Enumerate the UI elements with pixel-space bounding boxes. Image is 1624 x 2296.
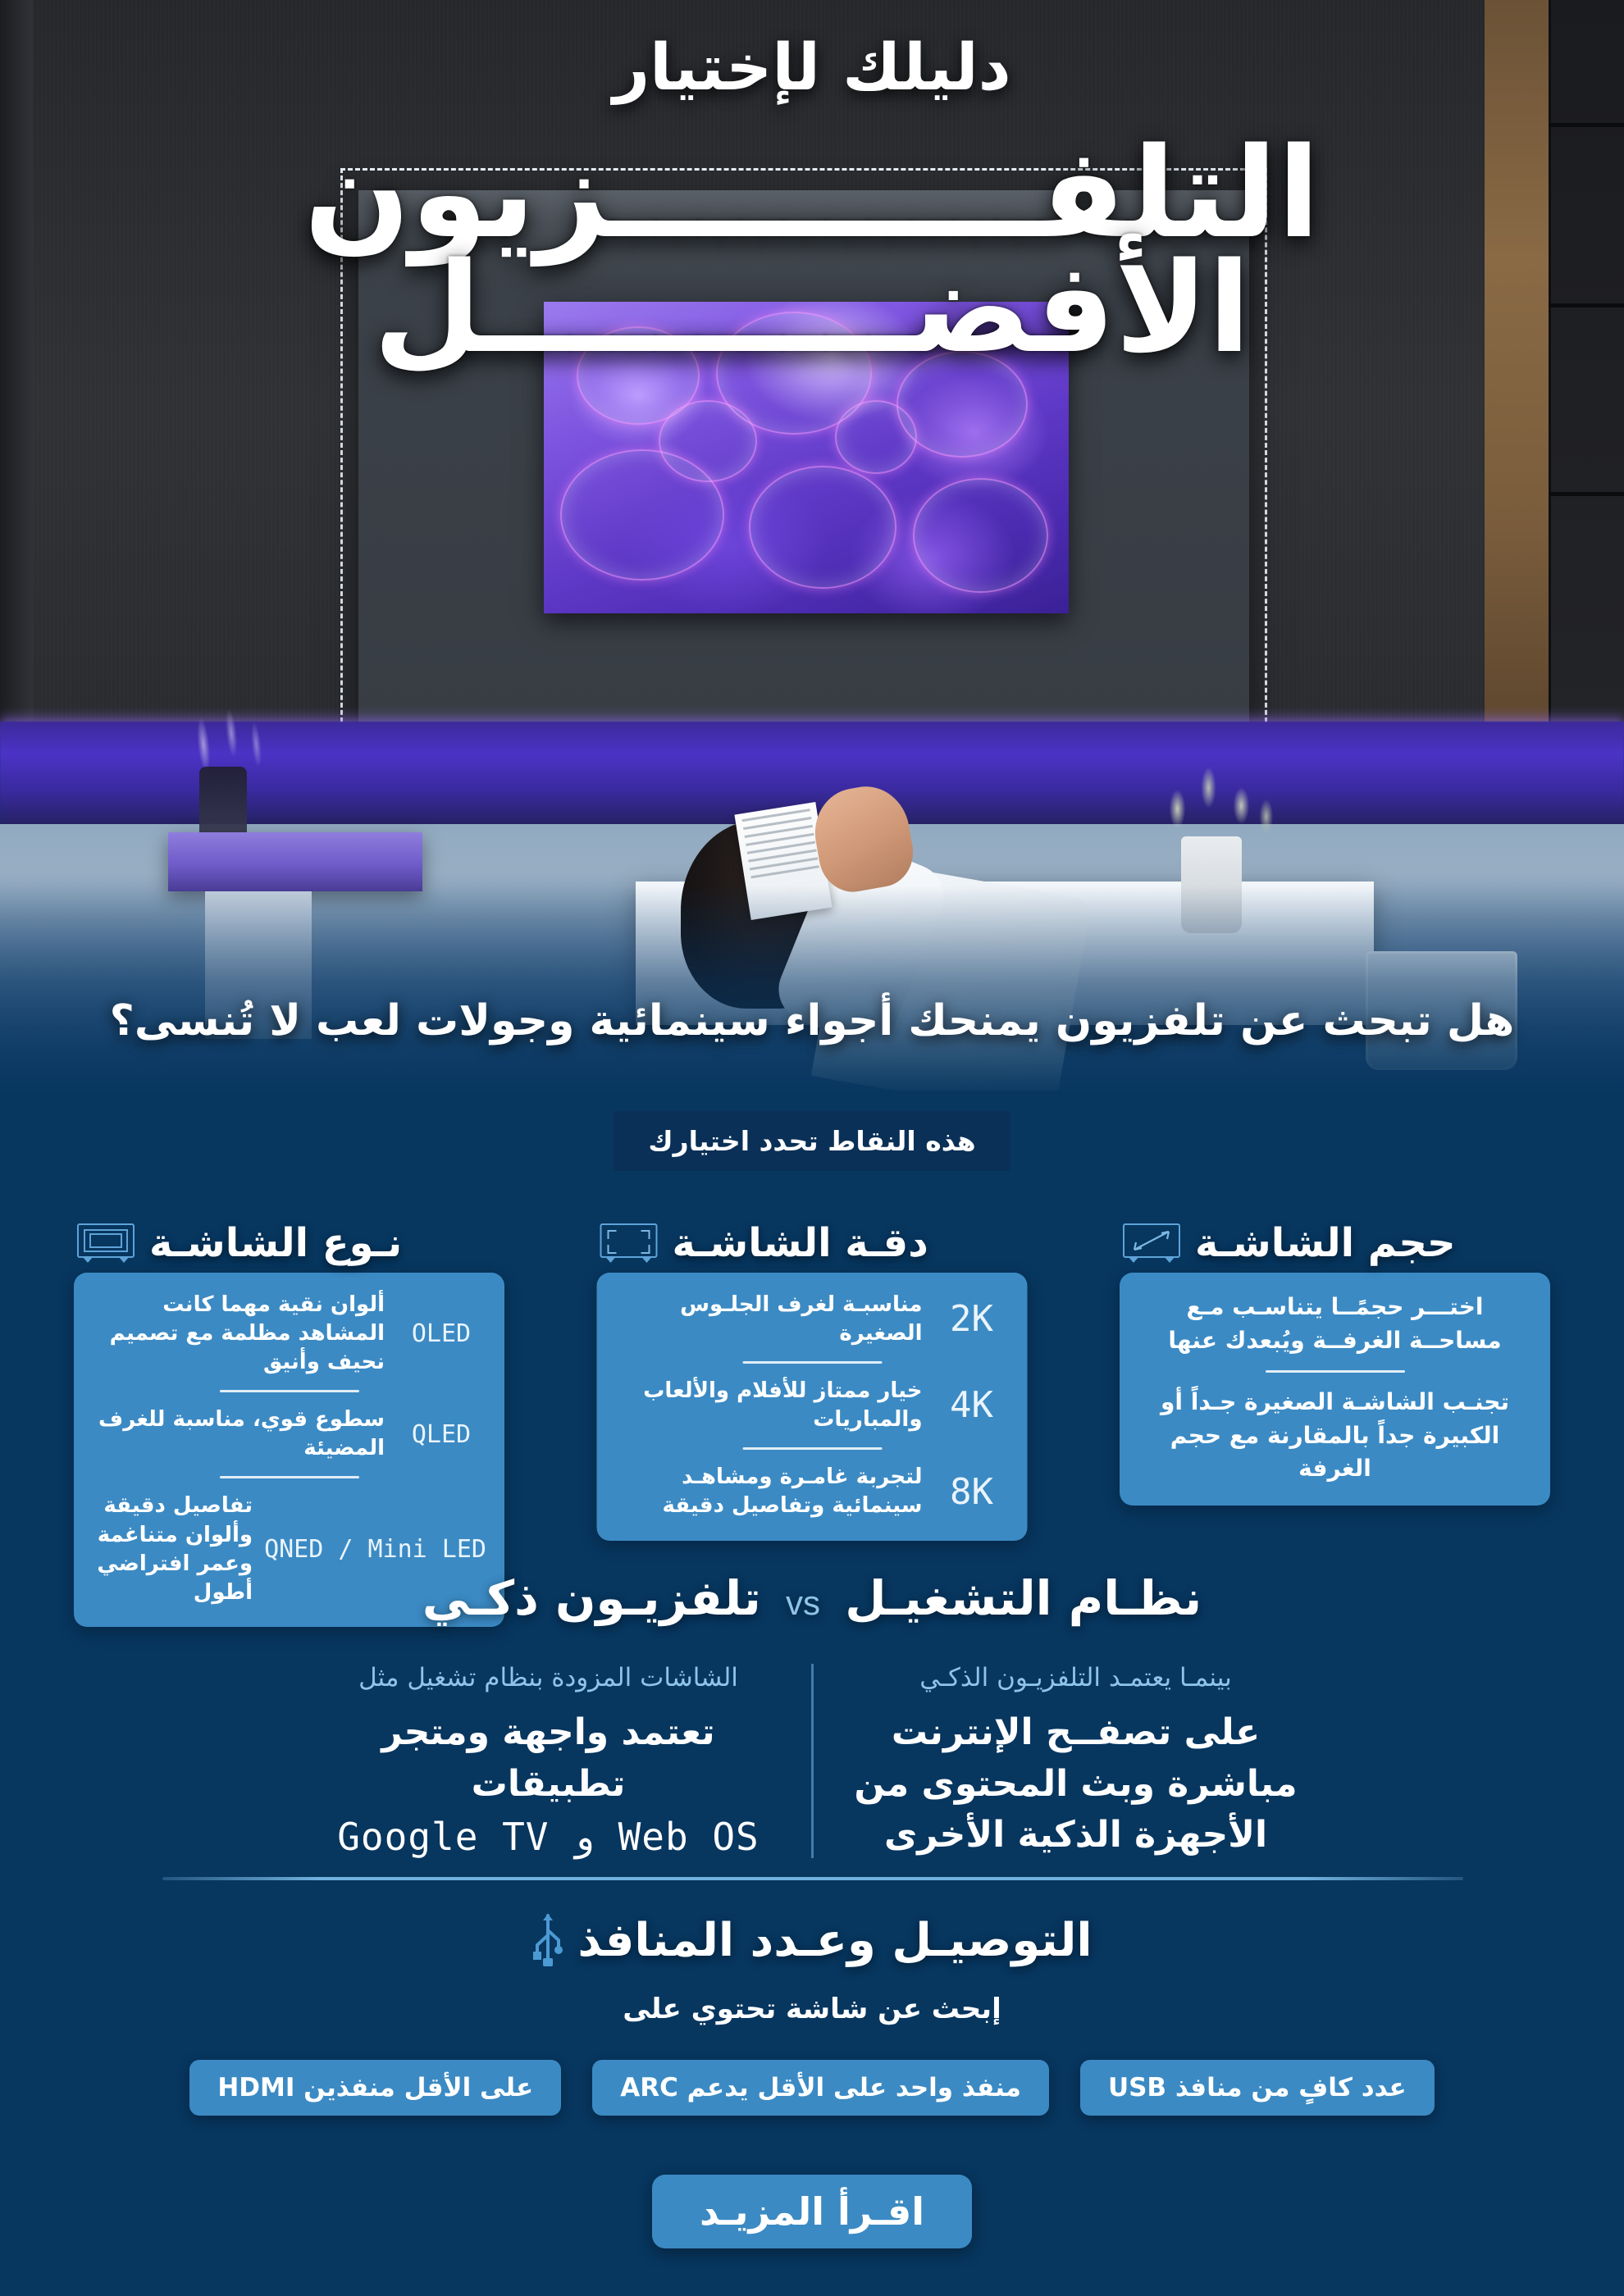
tv-nested-frames-icon — [77, 1223, 135, 1263]
os-column-operating-system: الشاشات المزودة بنظام تشغيل مثل تعتمد وا… — [286, 1660, 811, 1859]
card-row: QLED سطوع قوي، مناسبة للغرف المضيئة — [92, 1405, 486, 1463]
pill-arc: منفذ واحد على الأقل يدعم ARC — [592, 2060, 1049, 2116]
os-right-lead: الشاشات المزودة بنظام تشغيل مثل — [314, 1660, 783, 1696]
os-title-right: نظـام التشغيـل — [845, 1570, 1202, 1626]
row-divider — [1266, 1370, 1405, 1373]
infographic-page: دليلك لإختيار التلفــــــــــزيون الأفضـ… — [0, 0, 1624, 2296]
card-title: دقـة الشاشـة — [673, 1220, 928, 1266]
tv-corner-brackets-icon — [600, 1223, 658, 1263]
pill-hdmi: على الأقل منفذين HDMI — [189, 2060, 561, 2116]
card-row-value: لتجربة غامـرة ومشاهـد سينمائية وتفاصيل د… — [615, 1463, 923, 1520]
os-right-main: تعتمد واجهة ومتجر تطبيقات — [314, 1707, 783, 1810]
card-row: اختـــر حجمًــا يتناسـب مـع مساحــة الغر… — [1138, 1291, 1532, 1357]
card-row-value: ألوان نقية مهما كانت المشاهد مظلمة مع تص… — [92, 1291, 385, 1377]
section-divider — [162, 1877, 1463, 1880]
row-divider — [742, 1361, 882, 1364]
os-left-lead: بينمـا يعتمـد التلفزيـون الذكـي — [842, 1660, 1311, 1696]
hero-kicker: دليلك لإختيار — [0, 31, 1624, 105]
card-header: نـوع الشاشـة — [74, 1214, 504, 1273]
vs-label: vs — [778, 1583, 828, 1622]
card-title: حجم الشاشـة — [1195, 1220, 1456, 1266]
connectivity-title-row: التوصيـل وعـدد المنافذ — [0, 1911, 1624, 1970]
connectivity-section: التوصيـل وعـدد المنافذ إبحث عن شاشة تحتو… — [0, 1911, 1624, 2248]
hero-gradient-fade — [0, 886, 1624, 1091]
side-table — [168, 832, 422, 891]
card-row-value: سطوع قوي، مناسبة للغرف المضيئة — [92, 1405, 385, 1463]
card-row-key: 2K — [934, 1298, 1010, 1341]
os-column-smart-tv: بينمـا يعتمـد التلفزيـون الذكـي على تصفـ… — [814, 1660, 1339, 1861]
tv-diagonal-arrows-icon — [1123, 1223, 1180, 1263]
card-row-key: 4K — [934, 1384, 1010, 1427]
card-row-value: مناسبـة لغرف الجلـوس الصغيرة — [615, 1291, 923, 1348]
connectivity-subtitle: إبحث عن شاشة تحتوي على — [0, 1993, 1624, 2025]
card-body: اختـــر حجمًــا يتناسـب مـع مساحــة الغر… — [1120, 1273, 1550, 1506]
card-title: نـوع الشاشـة — [149, 1220, 402, 1266]
card-body: 2K مناسبـة لغرف الجلـوس الصغيرة 4K خيار … — [597, 1273, 1028, 1541]
card-screen-size: حجم الشاشـة اختـــر حجمًــا يتناسـب مـع … — [1120, 1214, 1550, 1506]
os-section-title: نظـام التشغيـل vs تلفزيـون ذكـي — [0, 1570, 1624, 1626]
card-row: 8K لتجربة غامـرة ومشاهـد سينمائية وتفاصي… — [615, 1463, 1010, 1520]
card-header: دقـة الشاشـة — [597, 1214, 1028, 1273]
card-row-value: تجنـب الشاشـة الصغيرة جـداً أو الكبيرة ج… — [1138, 1386, 1532, 1486]
card-row: تجنـب الشاشـة الصغيرة جـداً أو الكبيرة ج… — [1138, 1386, 1532, 1486]
card-row-key: OLED — [396, 1319, 486, 1348]
card-row-key: QNED / Mini LED — [264, 1535, 486, 1564]
card-row-value: اختـــر حجمًــا يتناسـب مـع مساحــة الغر… — [1138, 1291, 1532, 1357]
os-title-left: تلفزيـون ذكـي — [422, 1570, 761, 1626]
card-row-value: خيار ممتاز للأفلام والألعاب والمباريات — [615, 1377, 923, 1434]
card-screen-type: نـوع الشاشـة OLED ألوان نقية مهما كانت ا… — [74, 1214, 504, 1627]
feature-cards: حجم الشاشـة اختـــر حجمًــا يتناسـب مـع … — [0, 1214, 1624, 1542]
cta-wrapper: اقـرأ المزيـد — [0, 2175, 1624, 2248]
os-columns: بينمـا يعتمـد التلفزيـون الذكـي على تصفـ… — [0, 1660, 1624, 1861]
hero-question: هل تبحث عن تلفزيون يمنحك أجواء سينمائية … — [0, 996, 1624, 1045]
card-screen-resolution: دقـة الشاشـة 2K مناسبـة لغرف الجلـوس الص… — [597, 1214, 1028, 1541]
port-requirement-pills: عدد كافٍ من منافذ USB منفذ واحد على الأق… — [0, 2060, 1624, 2116]
card-header: حجم الشاشـة — [1120, 1214, 1550, 1273]
card-row-key: QLED — [396, 1420, 486, 1449]
os-left-main: على تصفــح الإنترنت مباشرة وبث المحتوى م… — [842, 1707, 1311, 1861]
read-more-button[interactable]: اقـرأ المزيـد — [652, 2175, 972, 2248]
os-systems-list: Web OS و Google TV — [314, 1815, 783, 1859]
page-title-line-2: الأفضــــــــــل — [0, 246, 1624, 371]
usb-icon — [531, 1911, 564, 1970]
pill-usb: عدد كافٍ من منافذ USB — [1080, 2060, 1435, 2116]
section-badge: هذه النقاط تحدد اختيارك — [614, 1111, 1010, 1171]
connectivity-title: التوصيـل وعـدد المنافذ — [577, 1914, 1092, 1967]
os-comparison-section: نظـام التشغيـل vs تلفزيـون ذكـي بينمـا ي… — [0, 1570, 1624, 1861]
card-row: 4K خيار ممتاز للأفلام والألعاب والمباريا… — [615, 1377, 1010, 1434]
os-column-divider — [811, 1664, 814, 1858]
row-divider — [742, 1447, 882, 1450]
card-row: 2K مناسبـة لغرف الجلـوس الصغيرة — [615, 1291, 1010, 1348]
card-row-key: 8K — [934, 1471, 1010, 1514]
row-divider — [220, 1476, 359, 1478]
card-row: OLED ألوان نقية مهما كانت المشاهد مظلمة … — [92, 1291, 486, 1377]
row-divider — [220, 1390, 359, 1392]
